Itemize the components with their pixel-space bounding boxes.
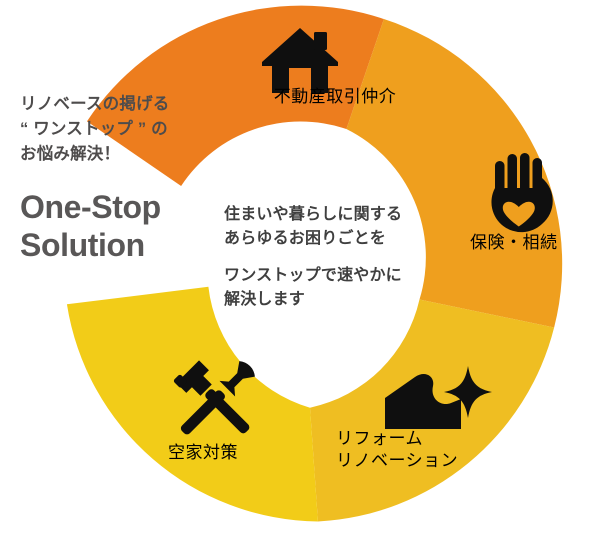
center-message-line-1: 住まいや暮らしに関する あらゆるお困りごとを bbox=[224, 203, 439, 252]
center-message-line-2: ワンストップで速やかに 解決します bbox=[224, 264, 439, 313]
segment-label-akiya: 空家対策 bbox=[168, 442, 278, 464]
segment-akiya[interactable] bbox=[67, 287, 318, 522]
segment-label-real-estate: 不動産取引仲介 bbox=[250, 86, 420, 108]
lead-text: リノベースの掲げる “ ワンストップ ” の お悩み解決！ bbox=[20, 92, 235, 167]
intro-block: リノベースの掲げる “ ワンストップ ” の お悩み解決！ One-Stop S… bbox=[20, 92, 235, 264]
segment-label-reform: リフォーム リノベーション bbox=[336, 428, 516, 473]
infographic-canvas: 不動産取引仲介 保険・相続 リフォーム リノベーション 空家対策 リノベースの掲… bbox=[0, 0, 600, 533]
page-title: One-Stop Solution bbox=[20, 189, 235, 264]
hand-heart-icon bbox=[491, 153, 552, 232]
segment-label-insurance: 保険・相続 bbox=[470, 232, 595, 254]
center-message: 住まいや暮らしに関する あらゆるお困りごとを ワンストップで速やかに 解決します bbox=[224, 203, 439, 312]
